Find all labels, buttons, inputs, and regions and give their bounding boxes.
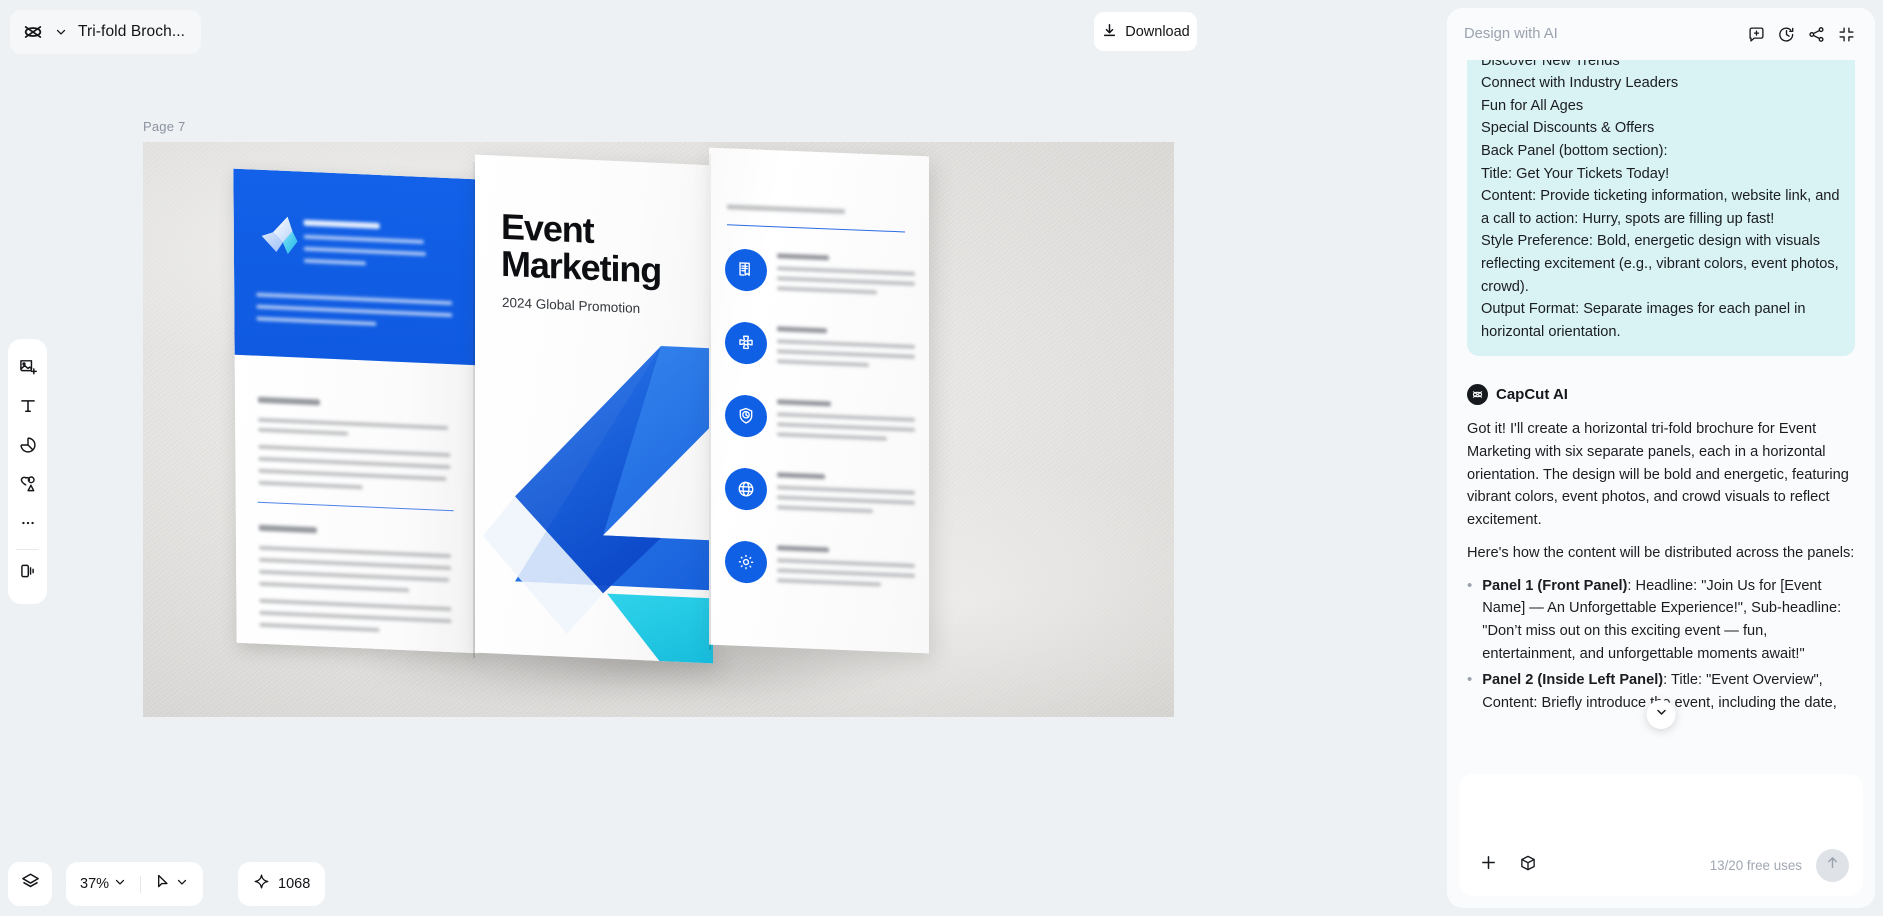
panel-left-blue-header	[233, 169, 476, 366]
bullet-label: Panel 2 (Inside Left Panel)	[1482, 672, 1663, 688]
free-uses-label: 13/20 free uses	[1710, 858, 1802, 873]
chevron-down-icon	[113, 875, 127, 894]
assistant-name: CapCut AI	[1496, 386, 1568, 403]
more-dots-icon	[18, 513, 38, 538]
brochure-subtitle: 2024 Global Promotion	[502, 295, 640, 316]
ai-chat-scroll[interactable]: Content: Discover New Trends Connect wit…	[1447, 60, 1875, 752]
bullet-label: Panel 1 (Front Panel)	[1482, 578, 1627, 594]
design-with-ai-panel: Design with AI	[1447, 8, 1875, 908]
chevron-down-icon	[175, 875, 189, 894]
assistant-paragraph: Got it! I'll create a horizontal tri-fol…	[1467, 418, 1855, 532]
user-message-bubble: Content: Discover New Trends Connect wit…	[1467, 60, 1855, 356]
share-nodes-icon[interactable]	[1801, 19, 1831, 49]
bullet-text: Panel 1 (Front Panel): Headline: "Join U…	[1482, 575, 1855, 666]
zoom-controls: 37%	[66, 862, 203, 906]
brochure-chevron-graphic	[475, 329, 713, 664]
settings-gear-icon	[725, 540, 767, 584]
document-certificate-icon	[725, 248, 767, 292]
assistant-paragraph: Here's how the content will be distribut…	[1467, 542, 1855, 565]
brochure-panel-center: EventMarketing 2024 Global Promotion	[475, 155, 713, 664]
brochure-feature-row	[725, 540, 917, 602]
model-picker-button[interactable]	[1515, 852, 1541, 878]
layers-button[interactable]	[8, 862, 52, 906]
download-button[interactable]: Download	[1094, 12, 1197, 51]
brochure-fold-seam	[709, 154, 711, 650]
cube-3d-icon	[1519, 854, 1537, 877]
tool-more[interactable]	[8, 506, 47, 545]
tool-text[interactable]	[8, 389, 47, 428]
left-toolbar	[8, 339, 47, 604]
assistant-identity: CapCut AI	[1467, 384, 1855, 405]
brochure-feature-row	[725, 248, 917, 310]
download-label: Download	[1125, 24, 1190, 40]
brochure-feature-row	[725, 321, 917, 383]
shield-clock-icon	[725, 394, 767, 438]
scroll-to-bottom-button[interactable]	[1647, 700, 1676, 729]
brochure-panel-right	[709, 148, 929, 654]
ai-prompt-input[interactable]	[1475, 788, 1847, 836]
capcut-logo-icon	[1467, 384, 1488, 405]
ai-panel-header: Design with AI	[1447, 8, 1875, 60]
credits-button[interactable]: 1068	[238, 862, 325, 906]
collapse-icon[interactable]	[1831, 19, 1861, 49]
arrow-up-icon	[1824, 854, 1841, 876]
credits-value: 1068	[278, 876, 310, 892]
brochure-panel-left	[233, 169, 478, 654]
tool-animation[interactable]	[8, 554, 47, 593]
chevron-down-icon	[1654, 705, 1668, 724]
project-chip[interactable]: Tri-fold Broch...	[10, 10, 201, 54]
shapes-elements-icon	[18, 474, 38, 499]
zoom-divider	[140, 876, 141, 893]
pointer-mode-select[interactable]	[154, 873, 189, 895]
ai-panel-title: Design with AI	[1464, 26, 1741, 42]
brochure-title: EventMarketing	[501, 208, 661, 290]
history-clock-icon[interactable]	[1771, 19, 1801, 49]
capcut-editor-window: Tri-fold Broch... Download	[0, 0, 1883, 916]
text-t-icon	[18, 396, 38, 421]
new-chat-icon[interactable]	[1741, 19, 1771, 49]
composer-toolbar: 13/20 free uses	[1475, 848, 1849, 882]
document-title: Tri-fold Broch...	[78, 23, 185, 41]
cursor-pointer-icon	[154, 873, 171, 895]
tool-color[interactable]	[8, 428, 47, 467]
sparkle-icon	[253, 873, 270, 895]
send-button[interactable]	[1816, 849, 1849, 882]
brochure-mockup[interactable]: EventMarketing 2024 Global Promotion	[143, 142, 1174, 717]
bullet-dot: •	[1467, 575, 1472, 666]
brochure-feature-row	[725, 394, 917, 456]
canvas-area[interactable]: Page 7	[0, 62, 1447, 858]
globe-network-icon	[725, 467, 767, 511]
plus-icon	[1479, 853, 1498, 877]
page-label: Page 7	[143, 119, 185, 134]
puzzle-gear-icon	[725, 321, 767, 365]
tool-media[interactable]	[8, 350, 47, 389]
attach-button[interactable]	[1475, 852, 1501, 878]
assistant-message: CapCut AI Got it! I'll create a horizont…	[1467, 384, 1855, 714]
tool-elements[interactable]	[8, 467, 47, 506]
add-image-icon	[18, 357, 38, 382]
assistant-bullet: • Panel 1 (Front Panel): Headline: "Join…	[1467, 575, 1855, 666]
brochure-logo-icon	[258, 214, 308, 260]
download-icon	[1101, 22, 1118, 42]
top-bar: Tri-fold Broch... Download	[0, 0, 1447, 62]
ai-composer: 13/20 free uses	[1459, 774, 1863, 896]
zoom-value: 37%	[80, 876, 109, 892]
brochure-feature-row	[725, 467, 917, 529]
brochure-fold-seam	[473, 162, 475, 658]
layers-icon	[20, 871, 41, 897]
bottom-bar: 37%	[0, 858, 1447, 916]
bullet-dot: •	[1467, 669, 1472, 714]
animation-icon	[18, 561, 38, 586]
toolbar-divider	[16, 549, 39, 550]
zoom-select[interactable]: 37%	[80, 875, 127, 894]
artboard-page-7[interactable]: EventMarketing 2024 Global Promotion	[143, 142, 1174, 717]
capcut-logo-icon[interactable]	[22, 21, 44, 43]
panel-right-rule	[727, 224, 905, 233]
color-wheel-icon	[18, 435, 38, 460]
project-menu-chevron-icon[interactable]	[54, 25, 68, 39]
